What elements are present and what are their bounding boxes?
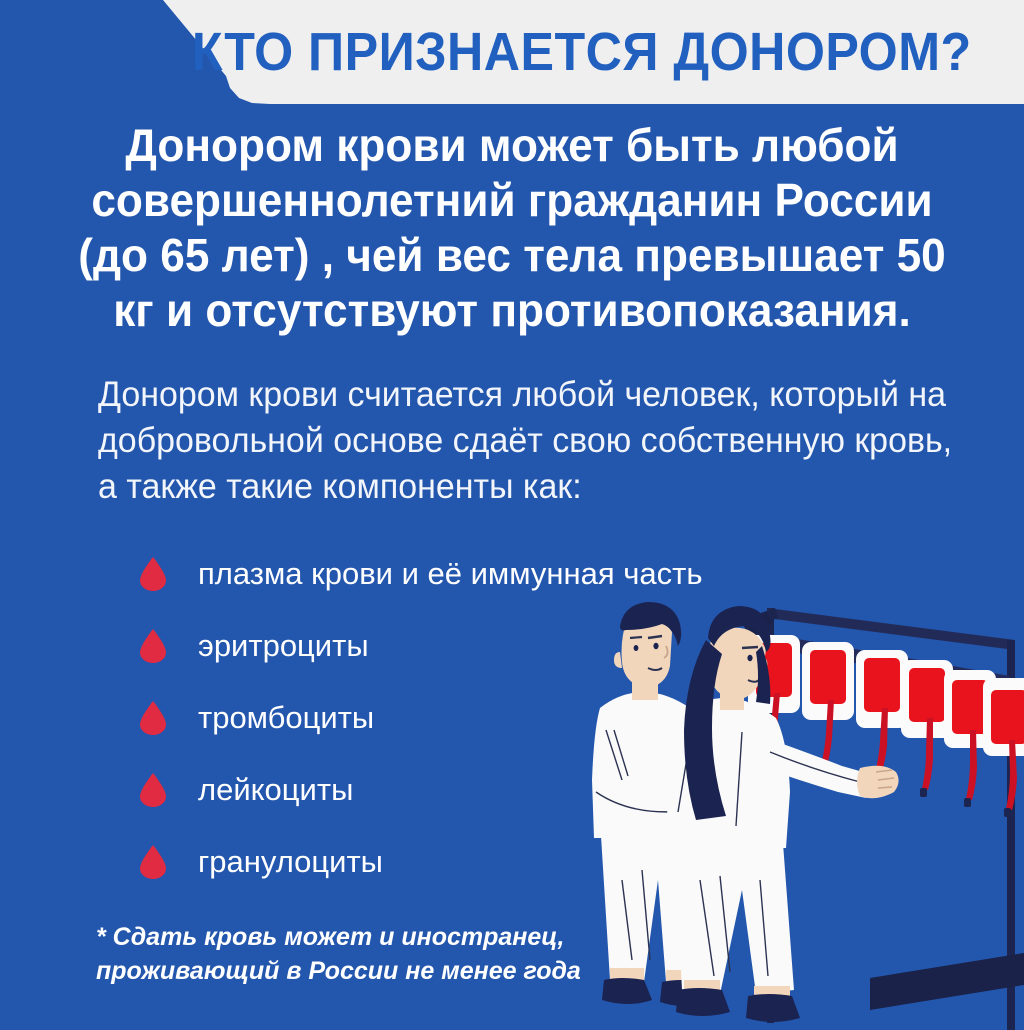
list-item: гранулоциты	[140, 826, 780, 898]
footnote-line-2: проживающий в России не менее года	[96, 954, 656, 988]
header-band: КТО ПРИЗНАЕТСЯ ДОНОРОМ?	[0, 0, 1024, 104]
blood-bag	[983, 678, 1024, 817]
blood-drop-icon	[140, 701, 166, 735]
blood-drop-icon	[140, 557, 166, 591]
blood-drop-icon	[140, 629, 166, 663]
page-title: КТО ПРИЗНАЕТСЯ ДОНОРОМ?	[36, 0, 988, 104]
blood-drop-icon	[140, 773, 166, 807]
list-item-label: эритроциты	[198, 629, 369, 663]
intro-paragraph: Донором крови считается любой человек, к…	[98, 372, 961, 510]
list-item-label: гранулоциты	[198, 845, 383, 879]
blood-drop-icon	[140, 845, 166, 879]
list-item: плазма крови и её иммунная часть	[140, 538, 780, 610]
footnote: * Сдать кровь может и иностранец, прожив…	[96, 920, 656, 988]
list-item: тромбоциты	[140, 682, 780, 754]
blood-components-list: плазма крови и её иммунная часть эритроц…	[140, 538, 780, 898]
blood-bag	[856, 650, 908, 785]
list-item-label: плазма крови и её иммунная часть	[198, 557, 703, 591]
list-item-label: лейкоциты	[198, 773, 353, 807]
footnote-line-1: * Сдать кровь может и иностранец,	[96, 920, 656, 954]
list-item: эритроциты	[140, 610, 780, 682]
list-item: лейкоциты	[140, 754, 780, 826]
headline-text: Донором крови может быть любой совершенн…	[70, 118, 953, 338]
list-item-label: тромбоциты	[198, 701, 374, 735]
